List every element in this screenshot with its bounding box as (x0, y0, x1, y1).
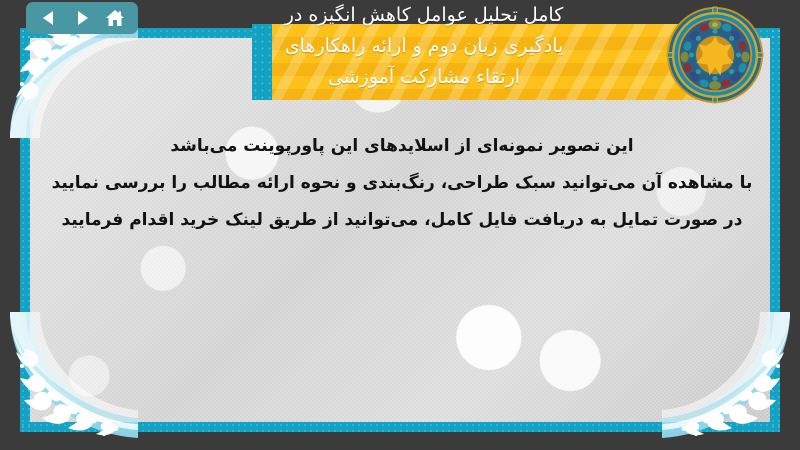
title-line-1: کامل تحلیل عوامل کاهش انگیزه در (144, 0, 704, 31)
page-title: کامل تحلیل عوامل کاهش انگیزه در یادگیری … (144, 0, 704, 93)
persian-medallion-icon (666, 6, 764, 104)
home-icon[interactable] (102, 6, 128, 30)
body-line-3: در صورت تمایل به دریافت فایل کامل، می‌تو… (30, 202, 774, 239)
body-line-1: این تصویر نمونه‌ای از اسلایدهای این پاور… (30, 128, 774, 165)
title-line-2: یادگیری زبان دوم و ارائه راهکارهای (144, 31, 704, 62)
body-text: این تصویر نمونه‌ای از اسلایدهای این پاور… (30, 128, 774, 239)
forward-icon[interactable] (69, 6, 95, 30)
body-line-2: با مشاهده آن می‌توانید سبک طراحی، رنگ‌بن… (30, 165, 774, 202)
slide-canvas: کامل تحلیل عوامل کاهش انگیزه در یادگیری … (0, 0, 800, 450)
title-line-3: ارتقاء مشارکت آموزشی (144, 62, 704, 93)
back-icon[interactable] (36, 6, 62, 30)
navigation-bar[interactable] (26, 2, 138, 34)
